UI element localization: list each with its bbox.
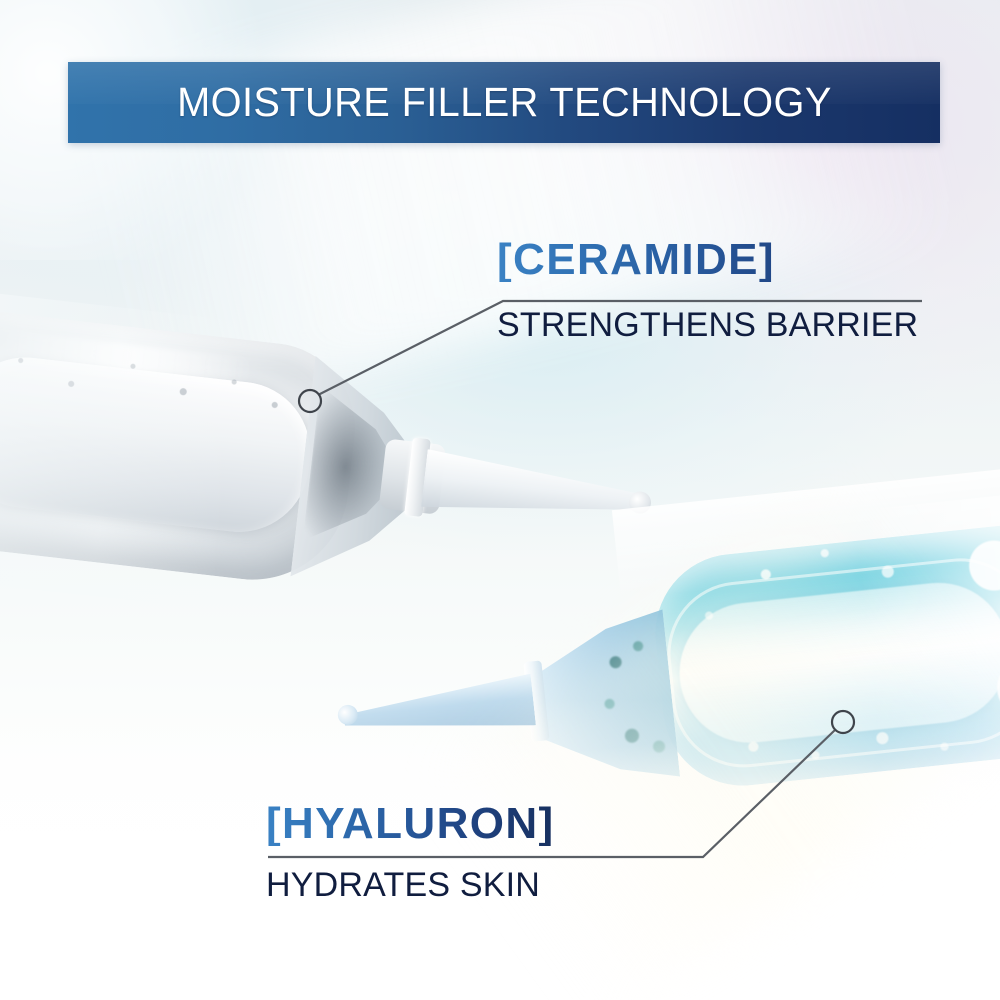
ceramide-subtitle: STRENGTHENS BARRIER xyxy=(497,308,918,342)
hyaluron-heading: [HYALURON] xyxy=(266,802,555,846)
promo-image-canvas: MOISTURE FILLER TECHNOLOGY [CERAMIDE] ST… xyxy=(0,0,1000,1000)
clear-ampoule-left-fade xyxy=(0,288,247,610)
title-banner: MOISTURE FILLER TECHNOLOGY xyxy=(68,62,940,143)
ceramide-heading: [CERAMIDE] xyxy=(497,238,918,282)
banner-title-text: MOISTURE FILLER TECHNOLOGY xyxy=(177,79,832,126)
callout-ceramide: [CERAMIDE] STRENGTHENS BARRIER xyxy=(497,238,918,342)
hyaluron-subtitle: HYDRATES SKIN xyxy=(266,868,555,902)
callout-hyaluron: [HYALURON] HYDRATES SKIN xyxy=(266,802,555,902)
